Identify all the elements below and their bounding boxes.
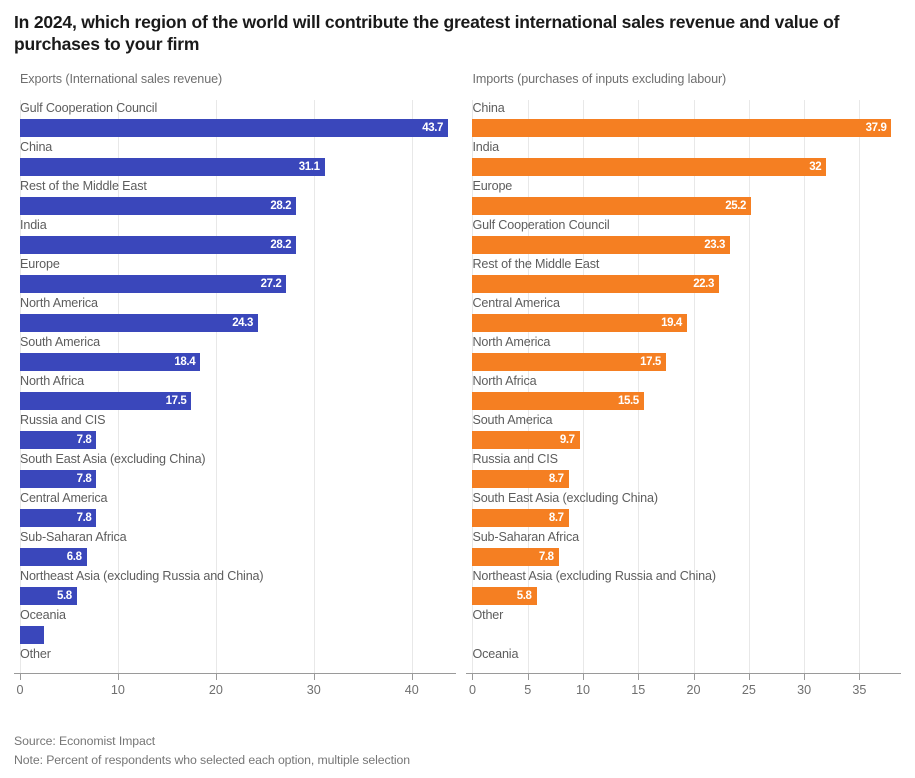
bar-value-label: 37.9 <box>866 119 887 137</box>
bar-category-label: India <box>472 139 499 156</box>
bar-wrapper: 19.4 <box>472 314 686 332</box>
bar-value-label: 8.7 <box>549 509 564 527</box>
bar-category-label: Europe <box>20 256 60 273</box>
exports-rows: Gulf Cooperation Council43.7China31.1Res… <box>14 100 456 685</box>
bar-row[interactable]: Russia and CIS7.8 <box>14 412 456 451</box>
imports-plot: China37.9India32Europe25.2Gulf Cooperati… <box>466 100 901 674</box>
bar-row[interactable]: South East Asia (excluding China)7.8 <box>14 451 456 490</box>
bar[interactable]: 8.7 <box>472 470 568 488</box>
bar-row[interactable]: North America17.5 <box>466 334 901 373</box>
bar-value-label: 7.8 <box>77 509 92 527</box>
bar-wrapper: 22.3 <box>472 275 719 293</box>
bar-row[interactable]: Oceania <box>466 646 901 685</box>
page-title: In 2024, which region of the world will … <box>14 0 901 56</box>
bar-value-label: 43.7 <box>422 119 443 137</box>
bar-value-label: 17.5 <box>640 353 661 371</box>
exports-subtitle: Exports (International sales revenue) <box>20 72 456 86</box>
bar[interactable]: 6.8 <box>20 548 87 566</box>
bar-wrapper: 28.2 <box>20 197 296 215</box>
bar[interactable]: 7.8 <box>20 431 96 449</box>
bar-value-label: 22.3 <box>693 275 714 293</box>
bar[interactable]: 5.8 <box>472 587 536 605</box>
chart-page: In 2024, which region of the world will … <box>0 0 915 778</box>
bar-wrapper: 5.8 <box>20 587 77 605</box>
bar-category-label: Russia and CIS <box>472 451 557 468</box>
bar[interactable]: 19.4 <box>472 314 686 332</box>
bar-value-label: 31.1 <box>299 158 320 176</box>
bar[interactable]: 7.8 <box>472 548 558 566</box>
bar[interactable]: 24.3 <box>20 314 258 332</box>
bar[interactable]: 37.9 <box>472 119 891 137</box>
bar-value-label: 17.5 <box>166 392 187 410</box>
bar-category-label: North America <box>472 334 550 351</box>
bar[interactable]: 27.2 <box>20 275 286 293</box>
tick-label: 20 <box>687 683 701 697</box>
bar-row[interactable]: North America24.3 <box>14 295 456 334</box>
bar-wrapper: 43.7 <box>20 119 448 137</box>
bar-wrapper: 27.2 <box>20 275 286 293</box>
source-text: Source: Economist Impact <box>14 732 410 751</box>
bar[interactable]: 25.2 <box>472 197 751 215</box>
bar[interactable]: 15.5 <box>472 392 643 410</box>
bar-row[interactable]: Central America7.8 <box>14 490 456 529</box>
bar-value-label: 23.3 <box>704 236 725 254</box>
bar-row[interactable]: China37.9 <box>466 100 901 139</box>
bar-wrapper: 6.8 <box>20 548 87 566</box>
tick-label: 10 <box>576 683 590 697</box>
bar-wrapper: 7.8 <box>472 548 558 566</box>
bar-value-label: 9.7 <box>560 431 575 449</box>
bar-category-label: Other <box>20 646 51 663</box>
tick-label: 10 <box>111 683 125 697</box>
bar-wrapper: 7.8 <box>20 470 96 488</box>
bar-row[interactable]: Oceania <box>14 607 456 646</box>
bar[interactable]: 9.7 <box>472 431 579 449</box>
tick-label: 30 <box>307 683 321 697</box>
bar-category-label: Northeast Asia (excluding Russia and Chi… <box>472 568 715 585</box>
bar-value-label: 7.8 <box>77 470 92 488</box>
bar-category-label: Europe <box>472 178 512 195</box>
bar-wrapper: 15.5 <box>472 392 643 410</box>
note-text: Note: Percent of respondents who selecte… <box>14 751 410 770</box>
bar-category-label: South East Asia (excluding China) <box>20 451 205 468</box>
bar-wrapper: 7.8 <box>20 431 96 449</box>
imports-rows: China37.9India32Europe25.2Gulf Cooperati… <box>466 100 901 685</box>
bar-category-label: North Africa <box>472 373 536 390</box>
bar[interactable]: 7.8 <box>20 470 96 488</box>
bar-row[interactable]: Rest of the Middle East22.3 <box>466 256 901 295</box>
bar[interactable]: 32 <box>472 158 826 176</box>
tick-label: 40 <box>405 683 419 697</box>
bar-value-label: 8.7 <box>549 470 564 488</box>
imports-panel: Imports (purchases of inputs excluding l… <box>466 72 901 702</box>
bar-wrapper: 37.9 <box>472 119 891 137</box>
tick-label: 25 <box>742 683 756 697</box>
bar-row[interactable]: Rest of the Middle East28.2 <box>14 178 456 217</box>
bar-row[interactable]: Northeast Asia (excluding Russia and Chi… <box>14 568 456 607</box>
bar-wrapper: 5.8 <box>472 587 536 605</box>
bar-wrapper: 9.7 <box>472 431 579 449</box>
bar[interactable]: 31.1 <box>20 158 325 176</box>
bar-value-label: 25.2 <box>725 197 746 215</box>
bar-value-label: 15.5 <box>618 392 639 410</box>
bar-category-label: Northeast Asia (excluding Russia and Chi… <box>20 568 263 585</box>
bar[interactable]: 17.5 <box>20 392 191 410</box>
bar-row[interactable]: South East Asia (excluding China)8.7 <box>466 490 901 529</box>
bar[interactable]: 28.2 <box>20 236 296 254</box>
bar-value-label: 27.2 <box>261 275 282 293</box>
bar-row[interactable]: South America18.4 <box>14 334 456 373</box>
bar-wrapper: 18.4 <box>20 353 200 371</box>
exports-plot: Gulf Cooperation Council43.7China31.1Res… <box>14 100 456 674</box>
bar-value-label: 32 <box>809 158 821 176</box>
bar-category-label: Gulf Cooperation Council <box>472 217 609 234</box>
tick-label: 15 <box>631 683 645 697</box>
bar-row[interactable]: China31.1 <box>14 139 456 178</box>
bar-value-label: 7.8 <box>539 548 554 566</box>
bar-category-label: China <box>20 139 52 156</box>
bar-category-label: South East Asia (excluding China) <box>472 490 657 507</box>
tick-label: 30 <box>797 683 811 697</box>
bar-value-label: 5.8 <box>57 587 72 605</box>
bar-row[interactable]: Gulf Cooperation Council43.7 <box>14 100 456 139</box>
bar-category-label: India <box>20 217 47 234</box>
bar-wrapper: 31.1 <box>20 158 325 176</box>
bar-category-label: Rest of the Middle East <box>472 256 599 273</box>
bar[interactable]: 23.3 <box>472 236 730 254</box>
bar-value-label: 7.8 <box>77 431 92 449</box>
bar-row[interactable]: North Africa15.5 <box>466 373 901 412</box>
bar-category-label: Gulf Cooperation Council <box>20 100 157 117</box>
charts-container: Exports (International sales revenue) Gu… <box>14 72 901 702</box>
bar-wrapper: 8.7 <box>472 470 568 488</box>
bar-wrapper: 23.3 <box>472 236 730 254</box>
bar-category-label: Sub-Saharan Africa <box>472 529 579 546</box>
bar-row[interactable]: Central America19.4 <box>466 295 901 334</box>
bar-wrapper: 8.7 <box>472 509 568 527</box>
bar[interactable] <box>20 626 44 644</box>
bar-row[interactable]: Russia and CIS8.7 <box>466 451 901 490</box>
tick-label: 0 <box>469 683 476 697</box>
bar-row[interactable]: Other <box>14 646 456 685</box>
bar-wrapper: 28.2 <box>20 236 296 254</box>
bar-category-label: Rest of the Middle East <box>20 178 147 195</box>
bar-row[interactable]: South America9.7 <box>466 412 901 451</box>
bar-row[interactable]: North Africa17.5 <box>14 373 456 412</box>
bar-value-label: 5.8 <box>517 587 532 605</box>
bar-row[interactable]: India32 <box>466 139 901 178</box>
bar[interactable]: 18.4 <box>20 353 200 371</box>
bar-row[interactable]: Sub-Saharan Africa7.8 <box>466 529 901 568</box>
bar-category-label: China <box>472 100 504 117</box>
bar-row[interactable]: Gulf Cooperation Council23.3 <box>466 217 901 256</box>
bar-wrapper: 25.2 <box>472 197 751 215</box>
tick-label: 5 <box>524 683 531 697</box>
bar[interactable]: 28.2 <box>20 197 296 215</box>
bar-value-label: 6.8 <box>67 548 82 566</box>
bar-row[interactable]: Sub-Saharan Africa6.8 <box>14 529 456 568</box>
bar-value-label: 18.4 <box>174 353 195 371</box>
bar-wrapper: 17.5 <box>20 392 191 410</box>
exports-panel: Exports (International sales revenue) Gu… <box>14 72 456 702</box>
bar-row[interactable]: Europe27.2 <box>14 256 456 295</box>
bar[interactable]: 8.7 <box>472 509 568 527</box>
bar-value-label: 28.2 <box>270 197 291 215</box>
bar-category-label: Oceania <box>20 607 66 624</box>
bar-category-label: Central America <box>20 490 107 507</box>
bar-category-label: Other <box>472 607 503 624</box>
bar-category-label: South America <box>472 412 552 429</box>
bar-category-label: South America <box>20 334 100 351</box>
bar-row[interactable]: Other <box>466 607 901 646</box>
bar-category-label: Central America <box>472 295 559 312</box>
bar-row[interactable]: India28.2 <box>14 217 456 256</box>
bar-wrapper: 24.3 <box>20 314 258 332</box>
tick-label: 0 <box>16 683 23 697</box>
bar-wrapper: 7.8 <box>20 509 96 527</box>
bar[interactable]: 5.8 <box>20 587 77 605</box>
bar[interactable]: 7.8 <box>20 509 96 527</box>
bar-category-label: Russia and CIS <box>20 412 105 429</box>
imports-subtitle: Imports (purchases of inputs excluding l… <box>472 72 901 86</box>
bar-category-label: Oceania <box>472 646 518 663</box>
bar[interactable]: 43.7 <box>20 119 448 137</box>
bar-row[interactable]: Europe25.2 <box>466 178 901 217</box>
bar-value-label: 24.3 <box>232 314 253 332</box>
bar-wrapper <box>20 626 44 644</box>
footer: Source: Economist Impact Note: Percent o… <box>14 732 410 770</box>
tick-label: 20 <box>209 683 223 697</box>
bar-category-label: North America <box>20 295 98 312</box>
bar[interactable]: 22.3 <box>472 275 719 293</box>
bar-value-label: 19.4 <box>661 314 682 332</box>
bar-row[interactable]: Northeast Asia (excluding Russia and Chi… <box>466 568 901 607</box>
bar-category-label: Sub-Saharan Africa <box>20 529 127 546</box>
tick-label: 35 <box>852 683 866 697</box>
bar-wrapper: 32 <box>472 158 826 176</box>
bar[interactable]: 17.5 <box>472 353 665 371</box>
bar-wrapper: 17.5 <box>472 353 665 371</box>
bar-category-label: North Africa <box>20 373 84 390</box>
bar-value-label: 28.2 <box>270 236 291 254</box>
